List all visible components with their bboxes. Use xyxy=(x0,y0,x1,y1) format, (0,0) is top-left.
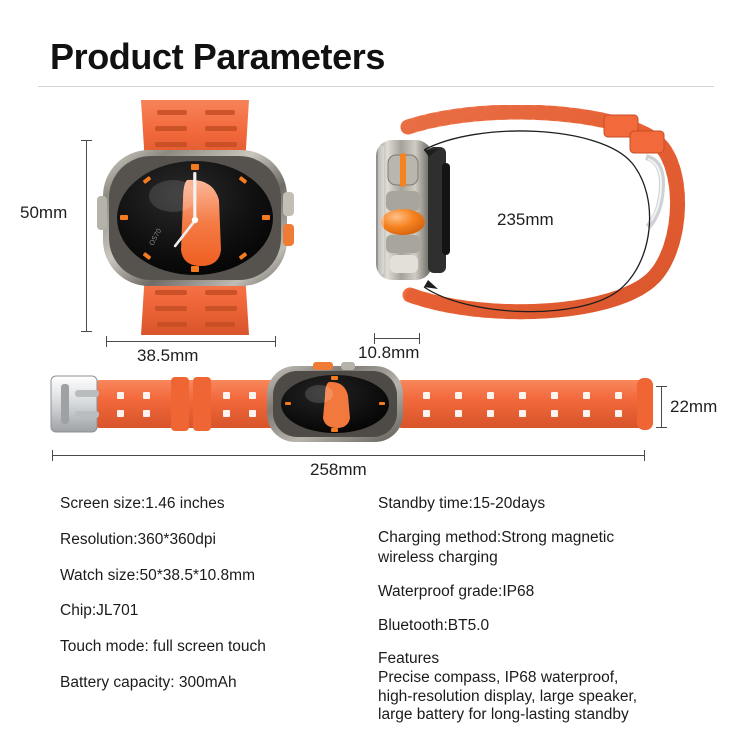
front-width-dimension-line xyxy=(106,341,276,342)
spec-screen-size: Screen size:1.46 inches xyxy=(60,494,380,514)
spec-chip: Chip:JL701 xyxy=(60,601,380,621)
specs-column-right: Standby time:15-20days Charging method:S… xyxy=(378,494,738,739)
side-thickness-dimension-line xyxy=(374,338,420,339)
watch-flat-full-view-figure xyxy=(45,362,660,444)
spec-battery-capacity: Battery capacity: 300mAh xyxy=(60,673,380,693)
spec-features: Features Precise compass, IP68 waterproo… xyxy=(378,650,738,726)
total-length-label: 258mm xyxy=(310,460,367,480)
specifications-section: Screen size:1.46 inches Resolution:360*3… xyxy=(0,494,750,704)
watch-screen: OS70 xyxy=(117,161,273,275)
spec-bluetooth: Bluetooth:BT5.0 xyxy=(378,616,738,636)
spec-resolution: Resolution:360*360dpi xyxy=(60,530,380,550)
specs-column-left: Screen size:1.46 inches Resolution:360*3… xyxy=(60,494,380,709)
strap-circumference-label: 235mm xyxy=(497,210,554,230)
spec-charging-method: Charging method:Strong magnetic wireless… xyxy=(378,528,738,568)
product-parameters-page: Product Parameters xyxy=(0,0,750,750)
total-length-dimension-line xyxy=(52,455,645,456)
watch-case-side xyxy=(376,140,450,280)
spec-watch-size: Watch size:50*38.5*10.8mm xyxy=(60,566,380,586)
watch-case-flat xyxy=(267,362,403,442)
page-title: Product Parameters xyxy=(50,36,385,78)
strap-buckle xyxy=(51,376,99,432)
front-height-label: 50mm xyxy=(20,203,67,223)
side-thickness-label: 10.8mm xyxy=(358,343,419,363)
strap-left-band xyxy=(93,377,283,431)
spec-waterproof-grade: Waterproof grade:IP68 xyxy=(378,582,738,602)
watch-front-view-figure: OS70 xyxy=(95,100,295,335)
strap-right-band xyxy=(395,378,653,430)
spec-touch-mode: Touch mode: full screen touch xyxy=(60,637,380,657)
strap-width-label: 22mm xyxy=(670,397,717,417)
title-divider xyxy=(38,86,714,87)
front-height-dimension-line xyxy=(86,140,87,332)
strap-width-dimension-line xyxy=(661,386,662,428)
spec-standby-time: Standby time:15-20days xyxy=(378,494,738,514)
